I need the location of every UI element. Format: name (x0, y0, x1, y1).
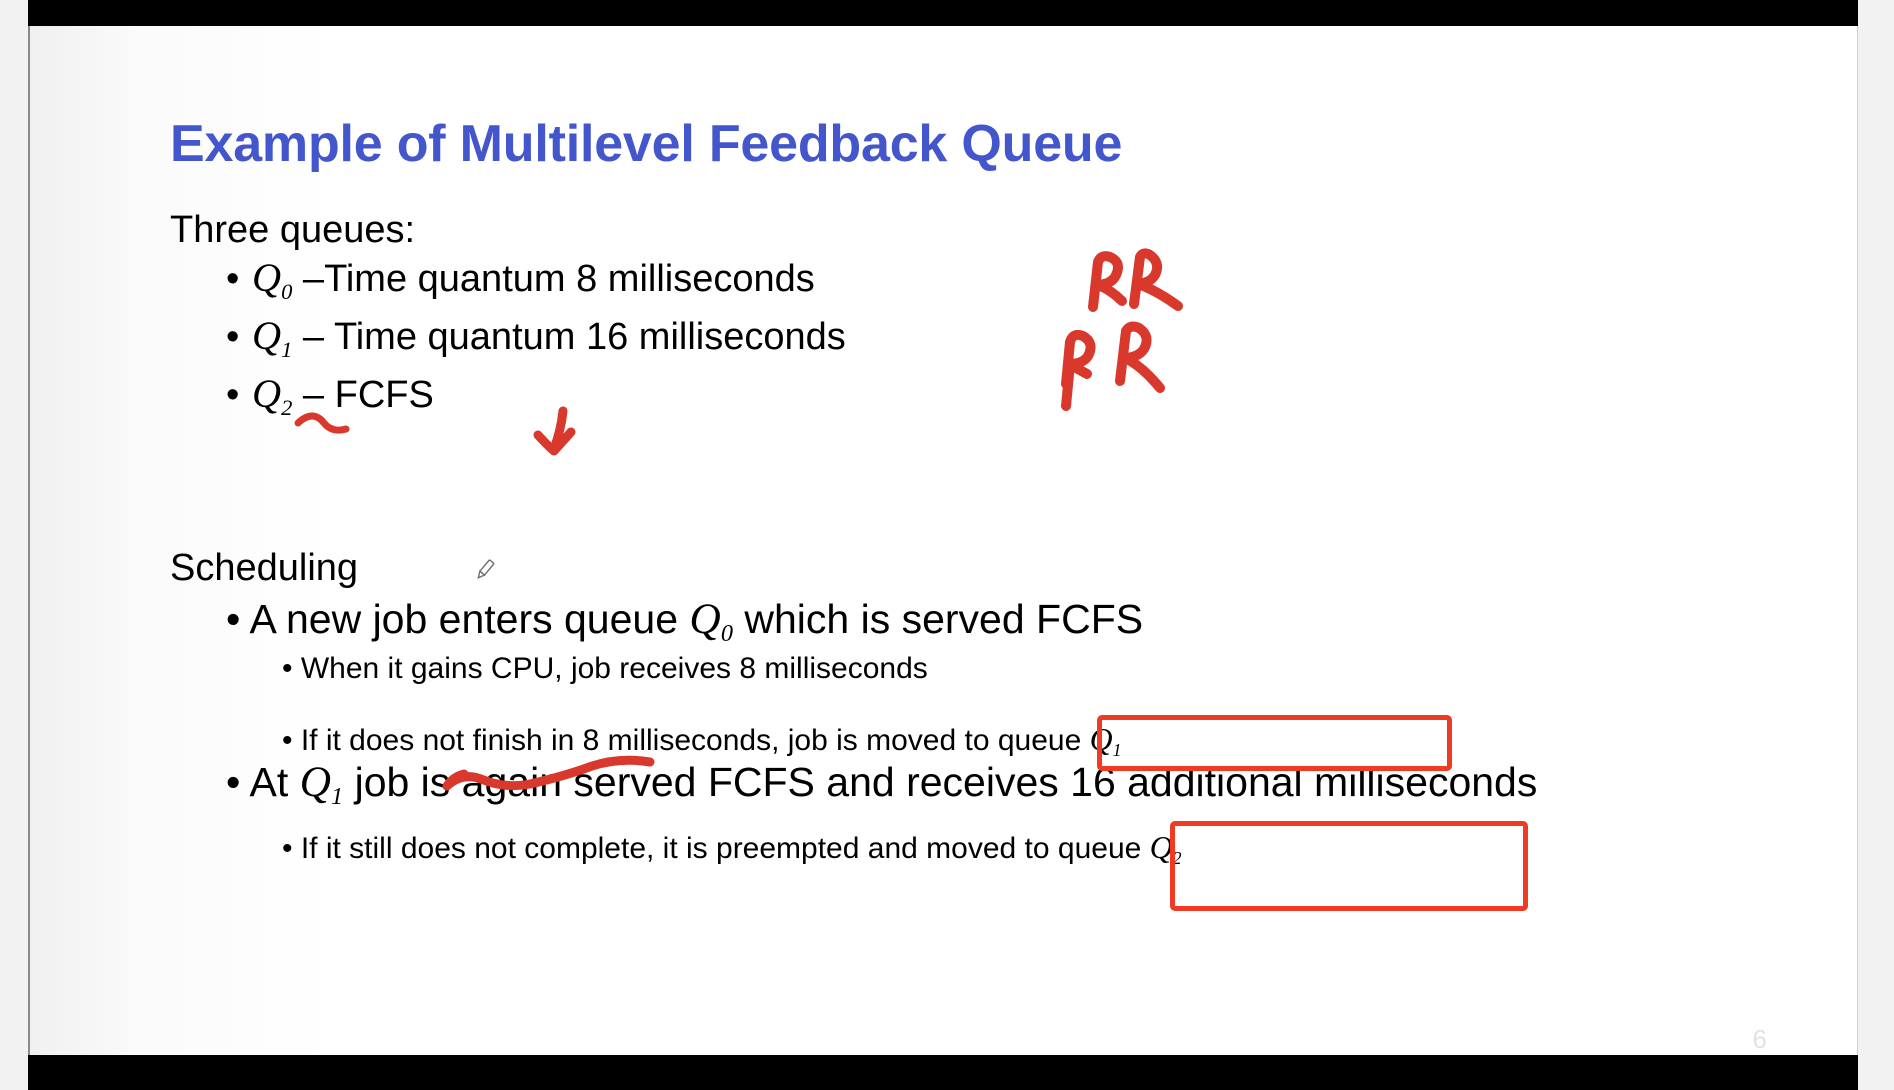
sched-subbullet-2-1: • If it still does not complete, it is p… (282, 832, 1182, 864)
queue-item-q2-text: – FCFS (292, 374, 433, 416)
sched-bullet-1: • A new job enters queue Q0 which is ser… (226, 598, 1143, 641)
viewer-bottom-bar (28, 1055, 1858, 1090)
queue-label-q1: Q1 (252, 313, 292, 358)
queue-label-q1-boxed: Q1 (1090, 722, 1122, 757)
sched-subbullet-2-1-boxed: moved to queue Q2 (926, 832, 1181, 865)
queue-label-q0: Q0 (252, 255, 292, 300)
viewer-top-bar (28, 0, 1858, 26)
queue-item-q0: •Q0 –Time quantum 8 milliseconds (226, 258, 815, 298)
queue-label-q1-inline: Q1 (300, 758, 344, 806)
queue-label-q2: Q2 (252, 371, 292, 416)
scheduling-heading: Scheduling (170, 549, 358, 587)
red-strike-q2 (298, 416, 346, 430)
page-title: Example of Multilevel Feedback Queue (170, 114, 1122, 174)
queue-label-q2-boxed: Q2 (1150, 830, 1182, 865)
sched-subbullet-1-2-pre: • If it does not finish in 8 millisecond… (282, 724, 866, 757)
sched-subbullet-1-1: • When it gains CPU, job receives 8 mill… (282, 654, 928, 684)
queues-heading: Three queues: (170, 211, 415, 249)
slide-canvas[interactable]: Example of Multilevel Feedback Queue Thr… (28, 26, 1858, 1055)
sched-bullet-1-pre: • A new job enters queue (226, 596, 689, 642)
queue-item-q1-text: – Time quantum 16 milliseconds (292, 316, 845, 358)
slide-viewer: Example of Multilevel Feedback Queue Thr… (0, 0, 1894, 1090)
slide-page-number: 6 (1753, 1024, 1767, 1055)
ink-annotation-layer (30, 26, 1858, 1055)
sched-bullet-2-post: job is again served FCFS and receives 16… (343, 759, 1537, 805)
pen-cursor-icon (470, 554, 500, 584)
queue-item-q2: •Q2 – FCFS (226, 374, 434, 414)
red-box-q2-annotation (1170, 821, 1528, 911)
sched-bullet-1-post: which is served FCFS (733, 596, 1143, 642)
sched-subbullet-2-1-pre: • If it still does not complete, it is p… (282, 832, 926, 865)
queue-item-q0-text: –Time quantum 8 milliseconds (292, 258, 814, 300)
red-down-arrow (538, 411, 571, 451)
handwritten-rr-top (1093, 253, 1178, 307)
bullet-glyph: • (226, 318, 252, 356)
bullet-glyph: • (226, 260, 252, 298)
handwritten-rr-bottom (1066, 327, 1160, 406)
bullet-glyph: • (226, 376, 252, 414)
queue-label-q0-inline: Q0 (689, 595, 733, 643)
queue-item-q1: •Q1 – Time quantum 16 milliseconds (226, 316, 846, 356)
sched-bullet-2: • At Q1 job is again served FCFS and rec… (226, 761, 1537, 804)
sched-subbullet-1-2-boxed: moved to queue Q1 (866, 724, 1121, 757)
sched-bullet-2-pre: • At (226, 759, 300, 805)
sched-subbullet-1-2: • If it does not finish in 8 millisecond… (282, 724, 1121, 756)
slide-shading (30, 26, 330, 1055)
